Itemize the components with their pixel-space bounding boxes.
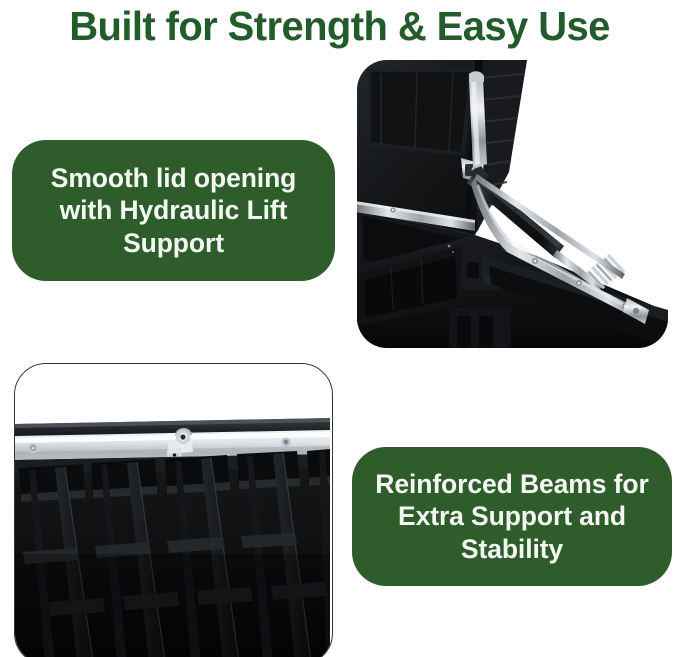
callout-smooth-lid-opening-label: Smooth lid opening with Hydraulic Lift S… — [12, 162, 335, 259]
infographic-page: Built for Strength & Easy Use — [0, 0, 679, 657]
photo-reinforced-beams — [14, 363, 333, 657]
reinforced-beams-illustration — [15, 364, 330, 657]
callout-reinforced-beams: Reinforced Beams for Extra Support and S… — [352, 447, 672, 586]
photo-hydraulic-lift — [357, 60, 668, 348]
callout-reinforced-beams-label: Reinforced Beams for Extra Support and S… — [352, 468, 672, 565]
page-title: Built for Strength & Easy Use — [8, 0, 670, 52]
hydraulic-lift-illustration — [357, 60, 668, 348]
callout-smooth-lid-opening: Smooth lid opening with Hydraulic Lift S… — [12, 140, 335, 281]
